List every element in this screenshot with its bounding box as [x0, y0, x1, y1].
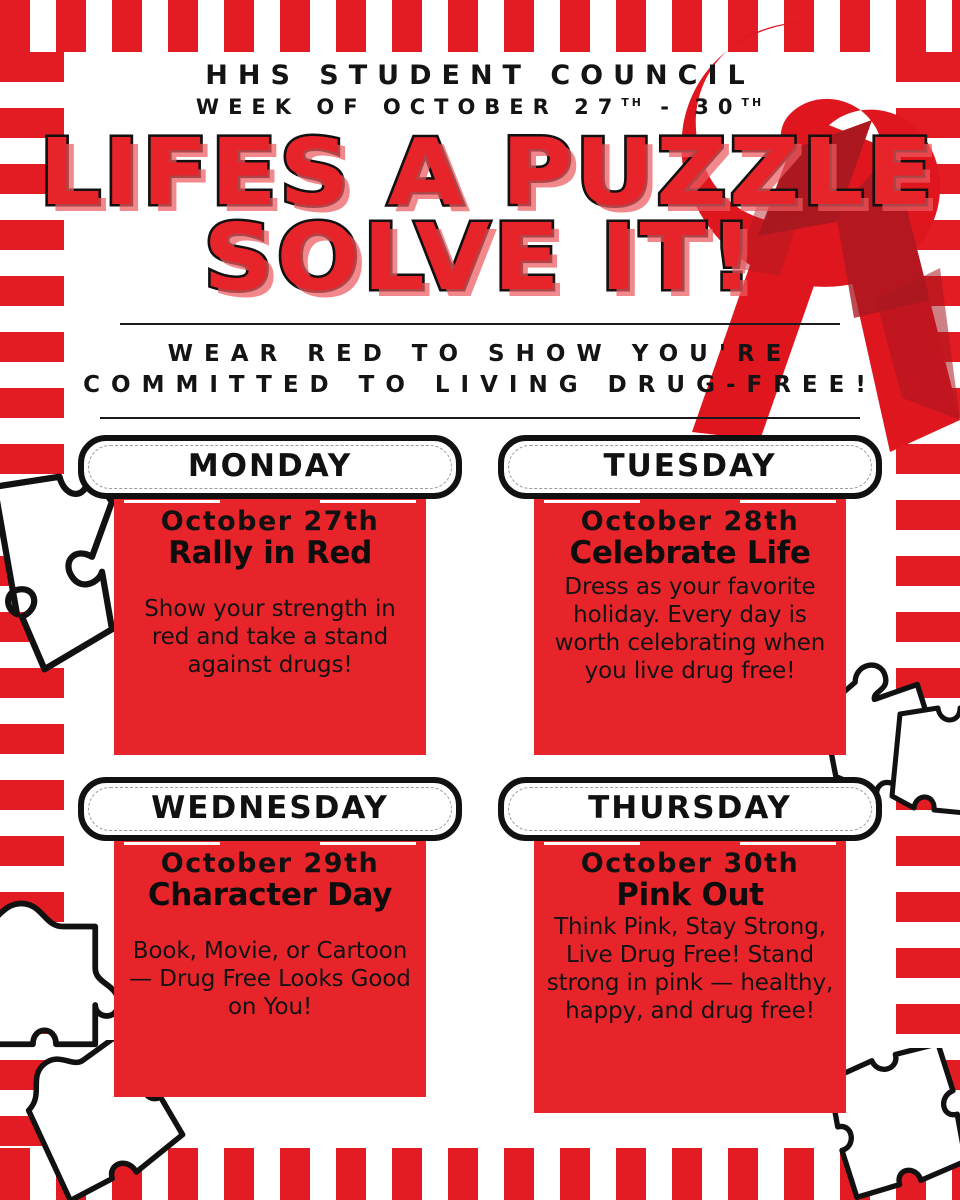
day-description: Show your strength in red and take a sta…: [124, 595, 416, 679]
week-middle: - 30: [644, 95, 742, 119]
divider-bottom: [100, 417, 860, 419]
day-date: October 30th: [544, 849, 836, 879]
day-description: Think Pink, Stay Strong, Live Drug Free!…: [544, 913, 836, 1025]
day-card-monday: MONDAY October 27th Rally in Red Show yo…: [78, 435, 462, 755]
tick-right: [740, 842, 836, 845]
tick-right: [320, 842, 416, 845]
day-header-wednesday: WEDNESDAY: [78, 777, 462, 841]
title-line-1: LIFES A PUZZLE: [39, 130, 921, 216]
poster-header: HHS STUDENT COUNCIL WEEK OF OCTOBER 27TH…: [64, 52, 896, 120]
tick-right: [740, 500, 836, 503]
day-header-monday: MONDAY: [78, 435, 462, 499]
poster-content: HHS STUDENT COUNCIL WEEK OF OCTOBER 27TH…: [64, 52, 896, 1148]
day-body-wednesday: October 29th Character Day Book, Movie, …: [114, 835, 426, 1097]
poster-subtitle: WEAR RED TO SHOW YOU'RE COMMITTED TO LIV…: [64, 339, 896, 401]
day-event-title: Pink Out: [544, 880, 836, 912]
day-body-monday: October 27th Rally in Red Show your stre…: [114, 493, 426, 755]
tick-left: [544, 500, 640, 503]
day-event-title: Rally in Red: [124, 538, 416, 570]
week-prefix: WEEK OF OCTOBER 27: [196, 95, 621, 119]
week-ordinal-first: TH: [621, 96, 644, 109]
week-ordinal-second: TH: [742, 96, 765, 109]
border-stripes-top: [0, 0, 960, 52]
day-description: Book, Movie, or Cartoon — Drug Free Look…: [124, 937, 416, 1021]
day-date: October 27th: [124, 507, 416, 537]
tick-right: [320, 500, 416, 503]
day-label: TUESDAY: [603, 451, 776, 482]
day-cards-grid: MONDAY October 27th Rally in Red Show yo…: [64, 435, 896, 1113]
day-header-tuesday: TUESDAY: [498, 435, 882, 499]
day-body-tuesday: October 28th Celebrate Life Dress as you…: [534, 493, 846, 755]
day-label: WEDNESDAY: [151, 793, 389, 824]
day-date: October 28th: [544, 507, 836, 537]
day-label: THURSDAY: [588, 793, 792, 824]
tick-left: [124, 842, 220, 845]
poster-canvas: HHS STUDENT COUNCIL WEEK OF OCTOBER 27TH…: [0, 0, 960, 1200]
day-date: October 29th: [124, 849, 416, 879]
day-card-tuesday: TUESDAY October 28th Celebrate Life Dres…: [498, 435, 882, 755]
tick-left: [124, 500, 220, 503]
divider-top: [120, 323, 840, 325]
day-header-thursday: THURSDAY: [498, 777, 882, 841]
day-card-wednesday: WEDNESDAY October 29th Character Day Boo…: [78, 777, 462, 1113]
subtitle-line-1: WEAR RED TO SHOW YOU'RE: [64, 339, 896, 370]
tick-left: [544, 842, 640, 845]
day-label: MONDAY: [188, 451, 352, 482]
week-range: WEEK OF OCTOBER 27TH - 30TH: [64, 95, 896, 120]
day-body-thursday: October 30th Pink Out Think Pink, Stay S…: [534, 835, 846, 1113]
border-stripes-bottom: [0, 1148, 960, 1200]
organization-title: HHS STUDENT COUNCIL: [64, 60, 896, 92]
poster-title: LIFES A PUZZLE SOLVE IT!: [64, 130, 896, 301]
title-line-2: SOLVE IT!: [39, 215, 921, 301]
day-event-title: Celebrate Life: [544, 538, 836, 570]
day-event-title: Character Day: [124, 880, 416, 911]
day-description: Dress as your favorite holiday. Every da…: [544, 573, 836, 685]
day-card-thursday: THURSDAY October 30th Pink Out Think Pin…: [498, 777, 882, 1113]
subtitle-line-2: COMMITTED TO LIVING DRUG-FREE!: [64, 370, 896, 401]
